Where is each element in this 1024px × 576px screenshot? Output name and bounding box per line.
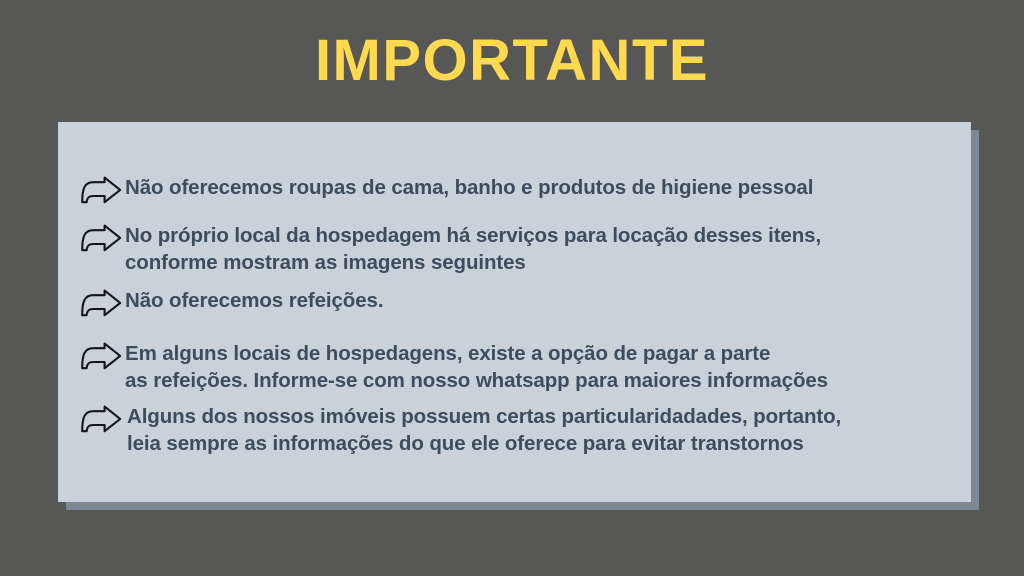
list-item: Não oferecemos roupas de cama, banho e p… (58, 174, 971, 205)
list-item: Não oferecemos refeições. (58, 287, 971, 318)
list-item: Alguns dos nossos imóveis possuem certas… (58, 403, 971, 457)
list-item: No próprio local da hospedagem há serviç… (58, 222, 971, 276)
arrow-right-icon (80, 289, 122, 318)
list-item-label: No próprio local da hospedagem há serviç… (125, 222, 821, 276)
arrow-right-icon (80, 342, 122, 371)
bullet-list: Não oferecemos roupas de cama, banho e p… (58, 174, 971, 457)
list-item-label: Não oferecemos roupas de cama, banho e p… (125, 174, 813, 201)
list-item-label: Alguns dos nossos imóveis possuem certas… (125, 403, 841, 457)
page-title: IMPORTANTE (0, 32, 1024, 90)
arrow-right-icon (80, 405, 122, 434)
list-item: Em alguns locais de hospedagens, existe … (58, 340, 971, 394)
content-panel: Não oferecemos roupas de cama, banho e p… (58, 122, 971, 502)
list-item-label: Em alguns locais de hospedagens, existe … (125, 340, 828, 394)
list-item-label: Não oferecemos refeições. (125, 287, 383, 314)
slide-canvas: IMPORTANTE Não oferecemos roupas de cama… (0, 0, 1024, 576)
arrow-right-icon (80, 224, 122, 253)
arrow-right-icon (80, 176, 122, 205)
